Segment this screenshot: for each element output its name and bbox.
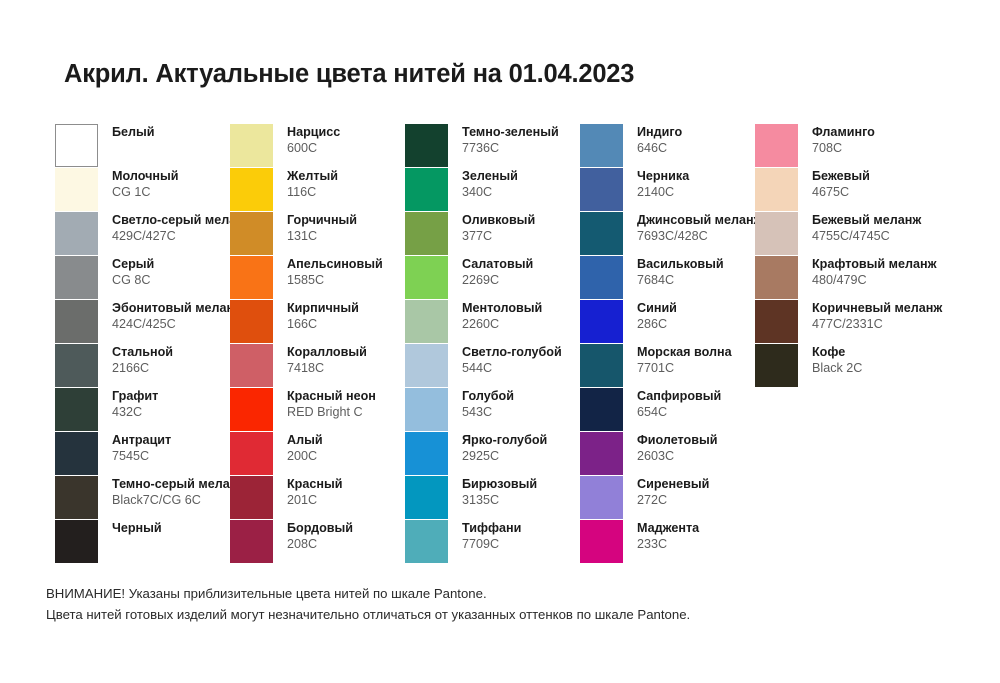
- color-swatch[interactable]: [55, 256, 98, 299]
- swatch-row[interactable]: Горчичный131C: [230, 212, 405, 256]
- color-swatch[interactable]: [405, 432, 448, 475]
- swatch-name: Сапфировый: [637, 389, 721, 405]
- swatch-pantone-code: CG 8C: [112, 273, 154, 289]
- swatch-text: Светло-серый меланж429C/427C: [112, 212, 230, 244]
- swatch-row[interactable]: Маджента233C: [580, 520, 755, 564]
- color-swatch[interactable]: [55, 344, 98, 387]
- column-browns: Фламинго708CБежевый4675CБежевый меланж47…: [755, 124, 940, 388]
- swatch-row[interactable]: Светло-голубой544C: [405, 344, 580, 388]
- swatch-name: Коралловый: [287, 345, 367, 361]
- swatch-row[interactable]: Черный: [55, 520, 230, 564]
- swatch-name: Голубой: [462, 389, 514, 405]
- swatch-name: Оливковый: [462, 213, 535, 229]
- swatch-pantone-code: 7736C: [462, 141, 559, 157]
- swatch-text: Васильковый7684C: [637, 256, 724, 288]
- swatch-text: Коралловый7418C: [287, 344, 367, 376]
- color-swatch[interactable]: [580, 168, 623, 211]
- column-warm: Нарцисс600CЖелтый116CГорчичный131CАпельс…: [230, 124, 405, 564]
- swatch-pantone-code: 377C: [462, 229, 535, 245]
- swatch-pantone-code: 2603C: [637, 449, 717, 465]
- swatch-text: Темно-серый меланжBlack7C/CG 6C: [112, 476, 230, 508]
- color-swatch[interactable]: [55, 432, 98, 475]
- swatch-text: Черника2140C: [637, 168, 689, 200]
- swatch-text: Фиолетовый2603C: [637, 432, 717, 464]
- swatch-name: Синий: [637, 301, 677, 317]
- swatch-text: Маджента233C: [637, 520, 699, 552]
- column-blues: Индиго646CЧерника2140CДжинсовый меланж76…: [580, 124, 755, 564]
- swatch-row[interactable]: Черника2140C: [580, 168, 755, 212]
- color-swatch[interactable]: [755, 212, 798, 255]
- swatch-text: Крафтовый меланж480/479C: [812, 256, 937, 288]
- swatch-text: Зеленый340C: [462, 168, 518, 200]
- swatch-text: КофеBlack 2C: [812, 344, 862, 376]
- color-swatch[interactable]: [755, 256, 798, 299]
- swatch-row[interactable]: Красный неонRED Bright C: [230, 388, 405, 432]
- swatch-text: Апельсиновый1585C: [287, 256, 383, 288]
- swatch-name: Белый: [112, 125, 155, 141]
- swatch-row[interactable]: Джинсовый меланж7693C/428C: [580, 212, 755, 256]
- swatch-text: МолочныйCG 1C: [112, 168, 179, 200]
- swatch-pantone-code: 1585C: [287, 273, 383, 289]
- color-swatch[interactable]: [405, 520, 448, 563]
- swatch-row[interactable]: Апельсиновый1585C: [230, 256, 405, 300]
- swatch-text: Алый200C: [287, 432, 323, 464]
- color-swatch[interactable]: [755, 344, 798, 387]
- swatch-row[interactable]: КофеBlack 2C: [755, 344, 940, 388]
- swatch-pantone-code: Black 2C: [812, 361, 862, 377]
- swatch-row[interactable]: Коралловый7418C: [230, 344, 405, 388]
- color-swatch[interactable]: [580, 520, 623, 563]
- swatch-pantone-code: 233C: [637, 537, 699, 553]
- swatch-text: Сапфировый654C: [637, 388, 721, 420]
- swatch-pantone-code: CG 1C: [112, 185, 179, 201]
- swatch-text: Стальной2166C: [112, 344, 173, 376]
- swatch-pantone-code: 7418C: [287, 361, 367, 377]
- swatch-name: Светло-серый меланж: [112, 213, 230, 229]
- swatch-text: Джинсовый меланж7693C/428C: [637, 212, 755, 244]
- swatch-pantone-code: 208C: [287, 537, 353, 553]
- swatch-name: Бежевый меланж: [812, 213, 921, 229]
- color-swatch[interactable]: [55, 520, 98, 563]
- swatch-text: Антрацит7545C: [112, 432, 171, 464]
- swatch-text: Графит432C: [112, 388, 158, 420]
- color-swatch[interactable]: [405, 168, 448, 211]
- swatch-pantone-code: 3135C: [462, 493, 537, 509]
- color-swatch[interactable]: [580, 432, 623, 475]
- swatch-text: Черный: [112, 520, 162, 537]
- swatch-name: Серый: [112, 257, 154, 273]
- swatch-name: Апельсиновый: [287, 257, 383, 273]
- swatch-pantone-code: 4755C/4745C: [812, 229, 921, 245]
- swatch-pantone-code: 544C: [462, 361, 562, 377]
- color-swatch[interactable]: [580, 344, 623, 387]
- swatch-row[interactable]: Графит432C: [55, 388, 230, 432]
- color-swatch[interactable]: [405, 388, 448, 431]
- swatch-row[interactable]: Бирюзовый3135C: [405, 476, 580, 520]
- color-swatch[interactable]: [55, 168, 98, 211]
- color-swatch[interactable]: [230, 388, 273, 431]
- swatch-text: СерыйCG 8C: [112, 256, 154, 288]
- swatch-name: Черника: [637, 169, 689, 185]
- swatch-row[interactable]: Желтый116C: [230, 168, 405, 212]
- swatch-name: Светло-голубой: [462, 345, 562, 361]
- swatch-pantone-code: 2260C: [462, 317, 542, 333]
- page-title: Акрил. Актуальные цвета нитей на 01.04.2…: [64, 60, 634, 89]
- swatch-text: Бежевый меланж4755C/4745C: [812, 212, 921, 244]
- swatch-text: Ярко-голубой2925C: [462, 432, 547, 464]
- color-swatch[interactable]: [580, 256, 623, 299]
- swatch-pantone-code: 286C: [637, 317, 677, 333]
- swatch-row[interactable]: Нарцисс600C: [230, 124, 405, 168]
- swatch-text: Оливковый377C: [462, 212, 535, 244]
- swatch-pantone-code: 600C: [287, 141, 340, 157]
- swatch-pantone-code: 424C/425C: [112, 317, 230, 333]
- swatch-row[interactable]: Бордовый208C: [230, 520, 405, 564]
- swatch-pantone-code: 340C: [462, 185, 518, 201]
- swatch-text: Тиффани7709C: [462, 520, 521, 552]
- swatch-name: Индиго: [637, 125, 682, 141]
- swatch-name: Кофе: [812, 345, 862, 361]
- swatch-name: Темно-серый меланж: [112, 477, 230, 493]
- swatch-name: Бирюзовый: [462, 477, 537, 493]
- swatch-name: Алый: [287, 433, 323, 449]
- color-swatch[interactable]: [230, 168, 273, 211]
- swatch-name: Желтый: [287, 169, 338, 185]
- swatch-name: Фиолетовый: [637, 433, 717, 449]
- swatch-row[interactable]: Синий286C: [580, 300, 755, 344]
- swatch-name: Кирпичный: [287, 301, 359, 317]
- swatch-pantone-code: 272C: [637, 493, 709, 509]
- swatch-text: Бежевый4675C: [812, 168, 870, 200]
- swatch-name: Нарцисс: [287, 125, 340, 141]
- color-chart-page: Акрил. Актуальные цвета нитей на 01.04.2…: [0, 0, 1000, 683]
- swatch-name: Ярко-голубой: [462, 433, 547, 449]
- swatch-pantone-code: 116C: [287, 185, 338, 201]
- color-swatch[interactable]: [755, 124, 798, 167]
- swatch-name: Фламинго: [812, 125, 875, 141]
- color-swatch[interactable]: [405, 476, 448, 519]
- swatch-row[interactable]: Фиолетовый2603C: [580, 432, 755, 476]
- swatch-pantone-code: 654C: [637, 405, 721, 421]
- swatch-row[interactable]: Салатовый2269C: [405, 256, 580, 300]
- color-swatch[interactable]: [55, 300, 98, 343]
- swatch-row[interactable]: Тиффани7709C: [405, 520, 580, 564]
- swatch-pantone-code: 201C: [287, 493, 343, 509]
- swatch-name: Бежевый: [812, 169, 870, 185]
- swatch-text: Коричневый меланж477C/2331C: [812, 300, 940, 332]
- swatch-grid: БелыйМолочныйCG 1CСветло-серый меланж429…: [55, 124, 955, 564]
- color-swatch[interactable]: [230, 212, 273, 255]
- swatch-name: Ментоловый: [462, 301, 542, 317]
- swatch-row[interactable]: МолочныйCG 1C: [55, 168, 230, 212]
- swatch-text: Нарцисс600C: [287, 124, 340, 156]
- color-swatch[interactable]: [755, 300, 798, 343]
- swatch-row[interactable]: Зеленый340C: [405, 168, 580, 212]
- color-swatch[interactable]: [230, 344, 273, 387]
- swatch-pantone-code: 200C: [287, 449, 323, 465]
- swatch-name: Бордовый: [287, 521, 353, 537]
- swatch-name: Джинсовый меланж: [637, 213, 755, 229]
- swatch-text: Желтый116C: [287, 168, 338, 200]
- swatch-name: Эбонитовый меланж: [112, 301, 230, 317]
- swatch-row[interactable]: Сиреневый272C: [580, 476, 755, 520]
- swatch-text: Синий286C: [637, 300, 677, 332]
- swatch-pantone-code: 7693C/428C: [637, 229, 755, 245]
- color-swatch[interactable]: [230, 476, 273, 519]
- swatch-text: Светло-голубой544C: [462, 344, 562, 376]
- swatch-text: Индиго646C: [637, 124, 682, 156]
- swatch-row[interactable]: Эбонитовый меланж424C/425C: [55, 300, 230, 344]
- swatch-name: Крафтовый меланж: [812, 257, 937, 273]
- swatch-name: Графит: [112, 389, 158, 405]
- disclaimer-note: ВНИМАНИЕ! Указаны приблизительные цвета …: [46, 583, 690, 625]
- swatch-name: Коричневый меланж: [812, 301, 940, 317]
- color-swatch[interactable]: [230, 520, 273, 563]
- swatch-row[interactable]: Фламинго708C: [755, 124, 940, 168]
- swatch-pantone-code: 7709C: [462, 537, 521, 553]
- swatch-pantone-code: 480/479C: [812, 273, 937, 289]
- color-swatch[interactable]: [580, 124, 623, 167]
- swatch-pantone-code: Black7C/CG 6C: [112, 493, 230, 509]
- swatch-pantone-code: 4675C: [812, 185, 870, 201]
- swatch-row[interactable]: Морская волна7701C: [580, 344, 755, 388]
- color-swatch[interactable]: [230, 432, 273, 475]
- color-swatch[interactable]: [580, 212, 623, 255]
- swatch-row[interactable]: Антрацит7545C: [55, 432, 230, 476]
- swatch-row[interactable]: Ментоловый2260C: [405, 300, 580, 344]
- swatch-text: Бирюзовый3135C: [462, 476, 537, 508]
- disclaimer-line-1: ВНИМАНИЕ! Указаны приблизительные цвета …: [46, 583, 690, 604]
- swatch-name: Темно-зеленый: [462, 125, 559, 141]
- color-swatch[interactable]: [580, 388, 623, 431]
- swatch-text: Красный неонRED Bright C: [287, 388, 376, 420]
- swatch-row[interactable]: Голубой543C: [405, 388, 580, 432]
- swatch-text: Морская волна7701C: [637, 344, 732, 376]
- color-swatch[interactable]: [230, 300, 273, 343]
- swatch-name: Зеленый: [462, 169, 518, 185]
- swatch-row[interactable]: Крафтовый меланж480/479C: [755, 256, 940, 300]
- swatch-text: Ментоловый2260C: [462, 300, 542, 332]
- swatch-row[interactable]: Бежевый4675C: [755, 168, 940, 212]
- swatch-name: Красный: [287, 477, 343, 493]
- color-swatch[interactable]: [405, 124, 448, 167]
- color-swatch[interactable]: [405, 300, 448, 343]
- swatch-row[interactable]: Темно-серый меланжBlack7C/CG 6C: [55, 476, 230, 520]
- color-swatch[interactable]: [230, 256, 273, 299]
- swatch-pantone-code: 432C: [112, 405, 158, 421]
- swatch-text: Белый: [112, 124, 155, 141]
- column-greys: БелыйМолочныйCG 1CСветло-серый меланж429…: [55, 124, 230, 564]
- swatch-pantone-code: 429C/427C: [112, 229, 230, 245]
- swatch-pantone-code: 2140C: [637, 185, 689, 201]
- swatch-row[interactable]: Алый200C: [230, 432, 405, 476]
- color-swatch[interactable]: [405, 344, 448, 387]
- swatch-row[interactable]: Бежевый меланж4755C/4745C: [755, 212, 940, 256]
- color-swatch[interactable]: [405, 212, 448, 255]
- swatch-row[interactable]: Красный201C: [230, 476, 405, 520]
- swatch-name: Морская волна: [637, 345, 732, 361]
- swatch-name: Горчичный: [287, 213, 357, 229]
- swatch-row[interactable]: Кирпичный166C: [230, 300, 405, 344]
- swatch-pantone-code: RED Bright C: [287, 405, 376, 421]
- swatch-row[interactable]: Темно-зеленый7736C: [405, 124, 580, 168]
- swatch-row[interactable]: Стальной2166C: [55, 344, 230, 388]
- swatch-text: Фламинго708C: [812, 124, 875, 156]
- swatch-name: Молочный: [112, 169, 179, 185]
- swatch-text: Красный201C: [287, 476, 343, 508]
- column-greens: Темно-зеленый7736CЗеленый340CОливковый37…: [405, 124, 580, 564]
- swatch-pantone-code: 477C/2331C: [812, 317, 940, 333]
- swatch-name: Маджента: [637, 521, 699, 537]
- swatch-text: Салатовый2269C: [462, 256, 533, 288]
- color-swatch[interactable]: [55, 212, 98, 255]
- color-swatch[interactable]: [405, 256, 448, 299]
- swatch-row[interactable]: СерыйCG 8C: [55, 256, 230, 300]
- color-swatch[interactable]: [580, 476, 623, 519]
- swatch-text: Бордовый208C: [287, 520, 353, 552]
- swatch-name: Черный: [112, 521, 162, 537]
- swatch-pantone-code: 2269C: [462, 273, 533, 289]
- swatch-row[interactable]: Коричневый меланж477C/2331C: [755, 300, 940, 344]
- color-swatch[interactable]: [580, 300, 623, 343]
- swatch-pantone-code: 2925C: [462, 449, 547, 465]
- swatch-pantone-code: 7701C: [637, 361, 732, 377]
- swatch-row[interactable]: Светло-серый меланж429C/427C: [55, 212, 230, 256]
- swatch-row[interactable]: Васильковый7684C: [580, 256, 755, 300]
- swatch-text: Эбонитовый меланж424C/425C: [112, 300, 230, 332]
- color-swatch[interactable]: [55, 124, 98, 167]
- swatch-pantone-code: 708C: [812, 141, 875, 157]
- swatch-row[interactable]: Белый: [55, 124, 230, 168]
- color-swatch[interactable]: [755, 168, 798, 211]
- swatch-name: Тиффани: [462, 521, 521, 537]
- swatch-pantone-code: 7684C: [637, 273, 724, 289]
- swatch-text: Горчичный131C: [287, 212, 357, 244]
- swatch-row[interactable]: Индиго646C: [580, 124, 755, 168]
- swatch-row[interactable]: Оливковый377C: [405, 212, 580, 256]
- swatch-text: Кирпичный166C: [287, 300, 359, 332]
- disclaimer-line-2: Цвета нитей готовых изделий могут незнач…: [46, 604, 690, 625]
- swatch-pantone-code: 131C: [287, 229, 357, 245]
- swatch-row[interactable]: Ярко-голубой2925C: [405, 432, 580, 476]
- swatch-text: Темно-зеленый7736C: [462, 124, 559, 156]
- swatch-name: Антрацит: [112, 433, 171, 449]
- swatch-text: Голубой543C: [462, 388, 514, 420]
- color-swatch[interactable]: [55, 388, 98, 431]
- swatch-name: Красный неон: [287, 389, 376, 405]
- swatch-name: Стальной: [112, 345, 173, 361]
- swatch-name: Салатовый: [462, 257, 533, 273]
- color-swatch[interactable]: [230, 124, 273, 167]
- swatch-pantone-code: 2166C: [112, 361, 173, 377]
- swatch-text: Сиреневый272C: [637, 476, 709, 508]
- swatch-pantone-code: 166C: [287, 317, 359, 333]
- color-swatch[interactable]: [55, 476, 98, 519]
- swatch-row[interactable]: Сапфировый654C: [580, 388, 755, 432]
- swatch-pantone-code: 7545C: [112, 449, 171, 465]
- swatch-pantone-code: 543C: [462, 405, 514, 421]
- swatch-name: Сиреневый: [637, 477, 709, 493]
- swatch-name: Васильковый: [637, 257, 724, 273]
- swatch-pantone-code: 646C: [637, 141, 682, 157]
